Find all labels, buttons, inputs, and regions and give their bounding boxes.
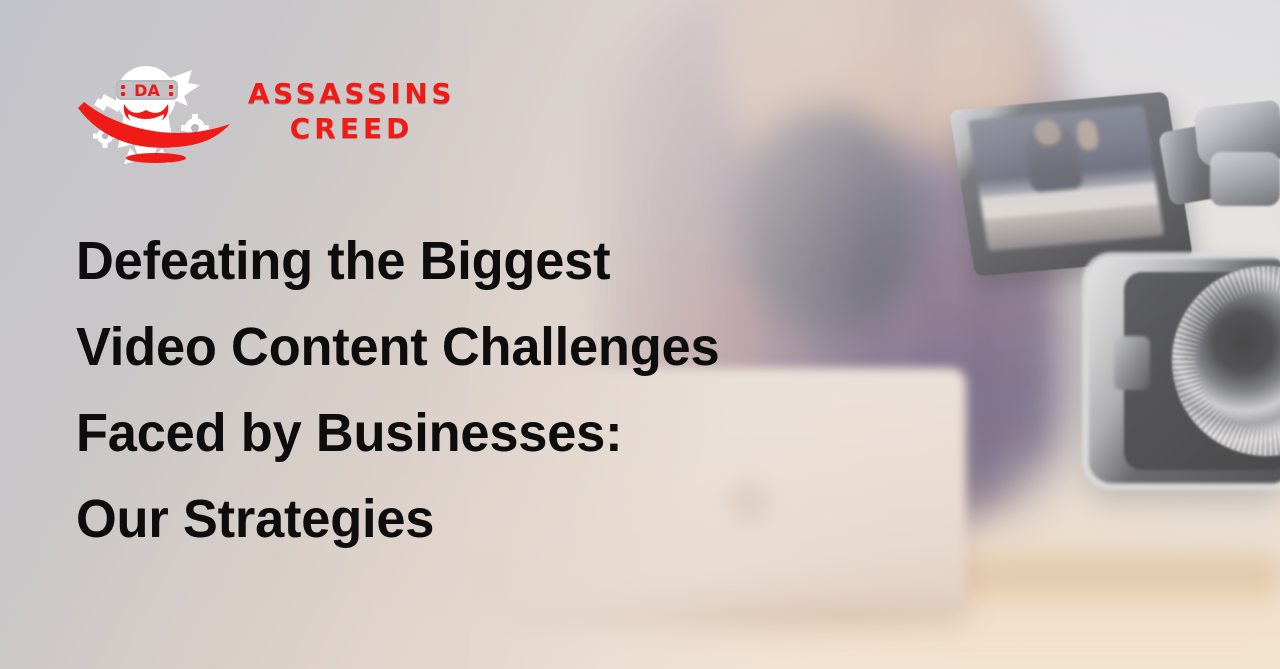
blog-banner: DA xyxy=(0,0,1280,669)
brand-logo[interactable]: DA xyxy=(74,52,455,164)
ninja-mascot-icon: DA xyxy=(74,52,234,164)
headline-line-3: Faced by Businesses: xyxy=(76,390,881,476)
headline-line-1: Defeating the Biggest xyxy=(76,218,881,304)
brand-word-creed: CREED xyxy=(290,115,414,143)
headline-line-2: Video Content Challenges xyxy=(76,304,881,390)
brand-word-assassins: ASSASSINS xyxy=(248,80,455,108)
brand-wordmark: ASSASSINS CREED xyxy=(248,74,455,143)
svg-text:DA: DA xyxy=(134,81,160,100)
headline-line-4: Our Strategies xyxy=(76,476,881,562)
page-title: Defeating the Biggest Video Content Chal… xyxy=(76,218,906,562)
